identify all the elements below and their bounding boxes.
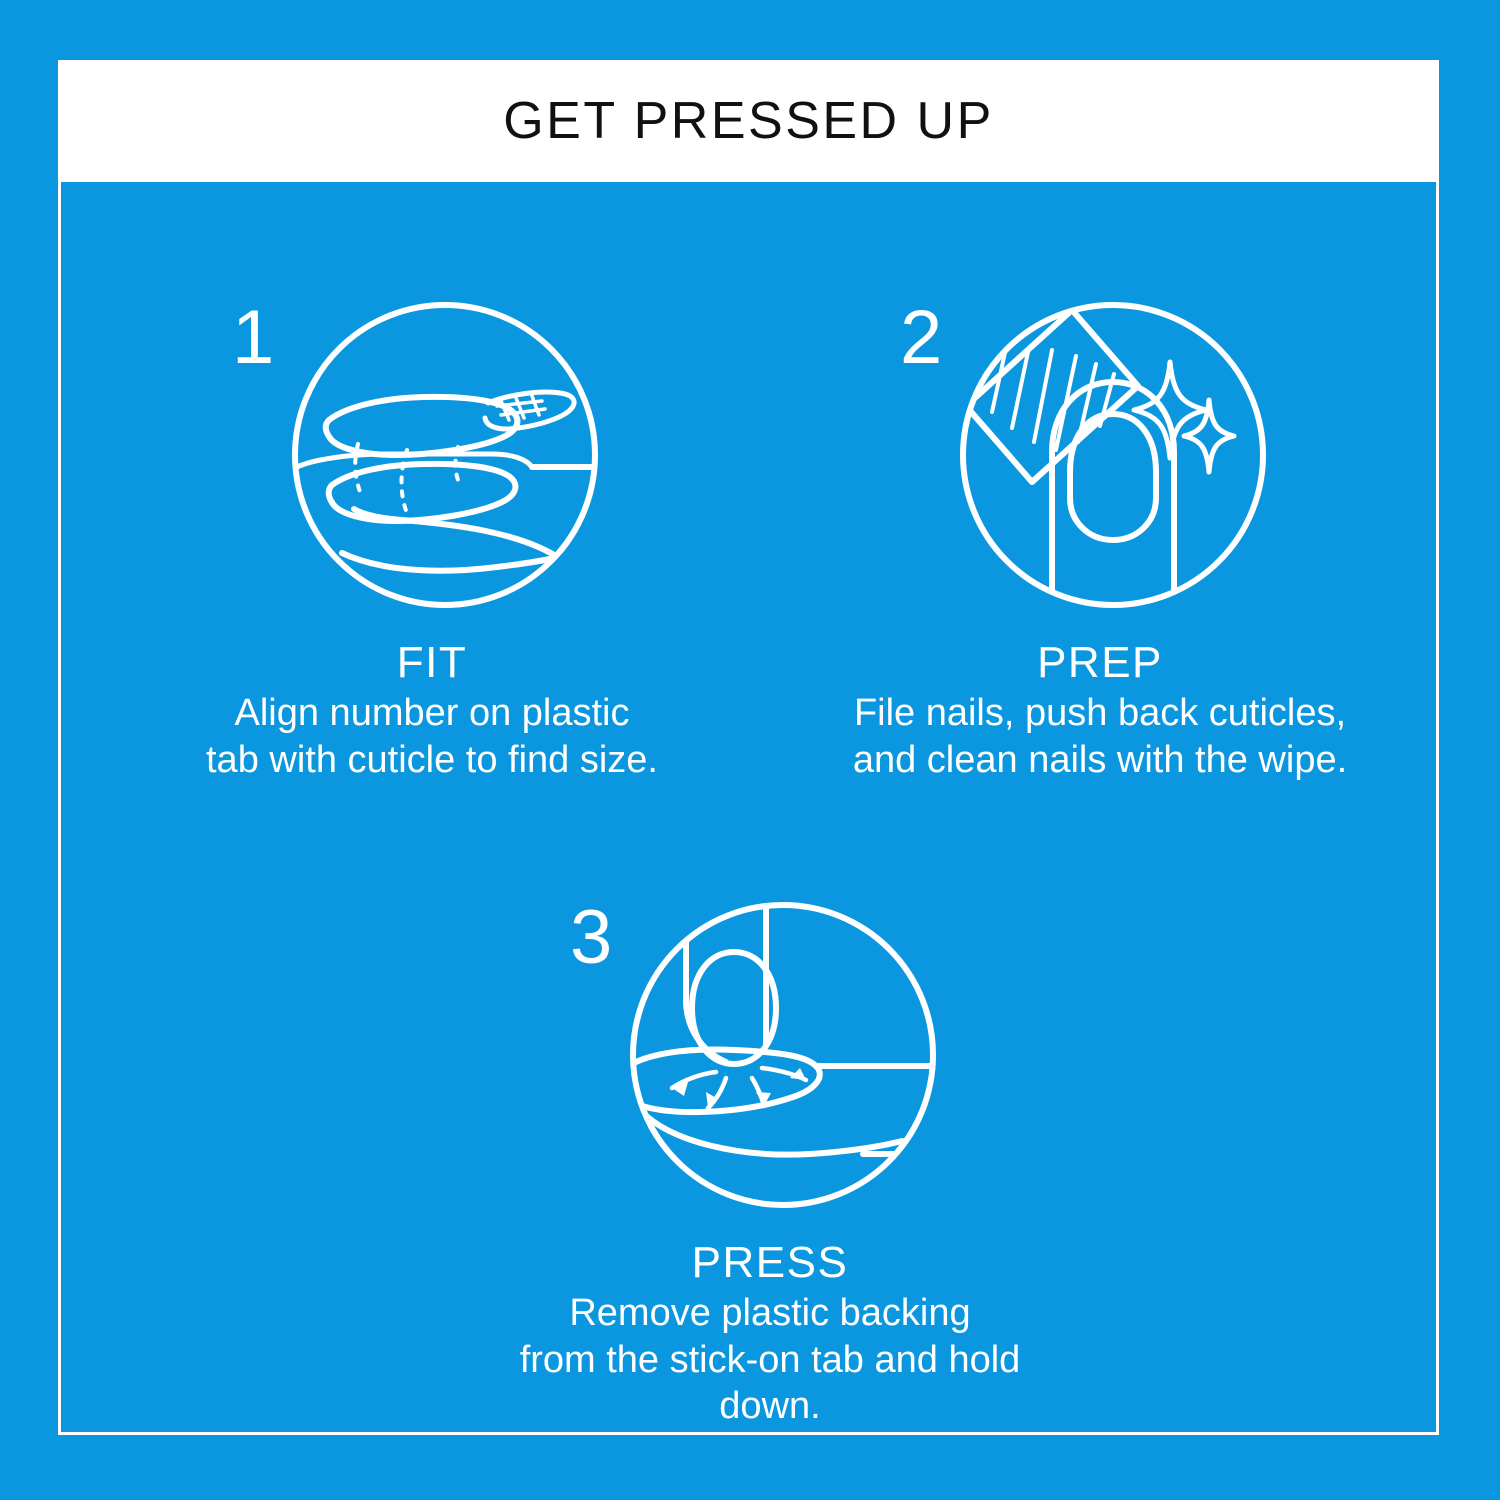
- step-1-number: 1: [232, 300, 274, 376]
- step-3-number: 3: [570, 900, 612, 976]
- step-1-visual: 1: [232, 292, 632, 622]
- instruction-card: GET PRESSED UP 1: [0, 0, 1500, 1500]
- step-3: 3: [470, 892, 1070, 1222]
- press-on-nail-sizing-icon: [292, 302, 598, 608]
- step-3-caption: PRESS Remove plastic backing from the st…: [470, 1240, 1070, 1429]
- step-1-caption: FIT Align number on plastic tab with cut…: [152, 640, 712, 783]
- step-2: 2: [800, 292, 1400, 622]
- step-2-description: File nails, push back cuticles, and clea…: [800, 690, 1400, 783]
- page-title: GET PRESSED UP: [503, 95, 994, 147]
- step-2-caption: PREP File nails, push back cuticles, and…: [800, 640, 1400, 783]
- step-1: 1: [152, 292, 712, 622]
- step-2-title: PREP: [800, 640, 1400, 686]
- nail-file-sparkle-icon: [960, 302, 1266, 608]
- step-3-title: PRESS: [470, 1240, 1070, 1286]
- step-2-visual: 2: [900, 292, 1300, 622]
- press-nail-down-arrows-icon: [630, 902, 936, 1208]
- step-3-visual: 3: [570, 892, 970, 1222]
- header-band: GET PRESSED UP: [58, 60, 1439, 182]
- step-1-description: Align number on plastic tab with cuticle…: [152, 690, 712, 783]
- step-3-description: Remove plastic backing from the stick-on…: [470, 1290, 1070, 1429]
- step-2-number: 2: [900, 300, 942, 376]
- step-1-title: FIT: [152, 640, 712, 686]
